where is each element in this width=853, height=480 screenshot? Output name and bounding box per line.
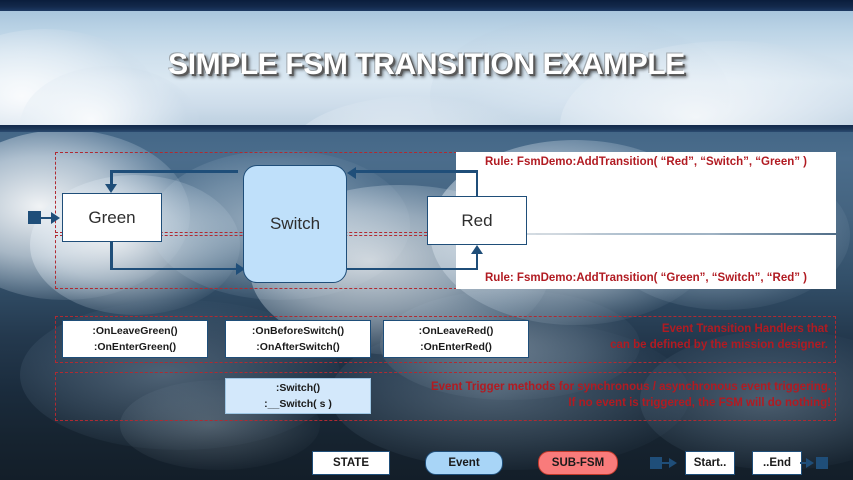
legend-start-arrow-icon bbox=[669, 458, 677, 468]
legend-end-square-icon bbox=[816, 457, 828, 469]
handler-box-switch[interactable]: :OnBeforeSwitch() :OnAfterSwitch() bbox=[225, 320, 371, 358]
legend-item-event[interactable]: Event bbox=[425, 451, 503, 475]
connector-red-top-up bbox=[476, 170, 479, 198]
legend: STATE Event SUB-FSM Start.. ..End bbox=[0, 446, 853, 480]
handlers-note: Event Transition Handlers that can be de… bbox=[610, 322, 828, 353]
legend-item-state[interactable]: STATE bbox=[312, 451, 390, 475]
connector-switch-to-red-h bbox=[347, 268, 477, 271]
legend-item-end[interactable]: ..End bbox=[752, 451, 802, 475]
legend-subfsm-label: SUB-FSM bbox=[552, 457, 604, 469]
handlers-note-line2: can be defined by the mission designer. bbox=[610, 338, 828, 354]
connector-green-to-switch-h bbox=[110, 268, 238, 271]
connector-switch-to-green-h bbox=[110, 170, 238, 173]
triggers-note-line1: Event Trigger methods for synchronous / … bbox=[431, 380, 831, 396]
legend-end-label: ..End bbox=[763, 457, 791, 469]
event-node-switch[interactable]: Switch bbox=[243, 165, 347, 283]
handler-box-red[interactable]: :OnLeaveRed() :OnEnterRed() bbox=[383, 320, 529, 358]
trigger-box-switch[interactable]: :Switch() :__Switch( s ) bbox=[225, 378, 371, 414]
slide-canvas: SIMPLE FSM TRANSITION EXAMPLE Rule: FsmD… bbox=[0, 0, 853, 480]
legend-start-label: Start.. bbox=[694, 457, 727, 469]
handlers-note-line1: Event Transition Handlers that bbox=[610, 322, 828, 338]
legend-item-subfsm[interactable]: SUB-FSM bbox=[538, 451, 618, 475]
header-divider bbox=[0, 125, 853, 132]
legend-start-square-icon bbox=[650, 457, 662, 469]
trigger-switch-sync: :Switch() bbox=[276, 380, 320, 396]
handler-red-enter: :OnEnterRed() bbox=[420, 339, 492, 355]
legend-item-start[interactable]: Start.. bbox=[685, 451, 735, 475]
connector-green-down bbox=[110, 242, 113, 270]
triggers-note: Event Trigger methods for synchronous / … bbox=[431, 380, 831, 411]
handler-red-leave: :OnLeaveRed() bbox=[419, 323, 494, 339]
legend-event-label: Event bbox=[448, 457, 479, 469]
connector-red-up bbox=[476, 254, 479, 270]
cloud-decoration bbox=[290, 96, 550, 125]
connector-red-to-switch-h bbox=[356, 170, 478, 173]
handler-green-enter: :OnEnterGreen() bbox=[94, 339, 176, 355]
triggers-note-line2: If no event is triggered, the FSM will d… bbox=[431, 396, 831, 412]
fsm-diagram: Rule: FsmDemo:AddTransition( “Red”, “Swi… bbox=[0, 132, 853, 480]
page-title: SIMPLE FSM TRANSITION EXAMPLE bbox=[0, 48, 853, 82]
arrow-into-green-start bbox=[51, 212, 60, 224]
trigger-switch-async: :__Switch( s ) bbox=[264, 396, 332, 412]
top-accent-bar bbox=[0, 0, 853, 11]
handler-switch-after: :OnAfterSwitch() bbox=[256, 339, 339, 355]
handler-box-green[interactable]: :OnLeaveGreen() :OnEnterGreen() bbox=[62, 320, 208, 358]
state-node-red-label: Red bbox=[461, 211, 492, 231]
state-node-green[interactable]: Green bbox=[62, 193, 162, 242]
event-node-switch-label: Switch bbox=[270, 214, 320, 234]
legend-end-arrow-icon bbox=[806, 458, 814, 468]
state-node-green-label: Green bbox=[88, 208, 135, 228]
start-marker-square bbox=[28, 211, 41, 224]
legend-state-label: STATE bbox=[333, 457, 369, 469]
handler-green-leave: :OnLeaveGreen() bbox=[92, 323, 177, 339]
arrow-into-green-top bbox=[105, 184, 117, 193]
arrow-into-switch-top bbox=[347, 167, 356, 179]
state-node-red[interactable]: Red bbox=[427, 196, 527, 245]
handler-switch-before: :OnBeforeSwitch() bbox=[252, 323, 344, 339]
arrow-into-red-bottom bbox=[471, 245, 483, 254]
